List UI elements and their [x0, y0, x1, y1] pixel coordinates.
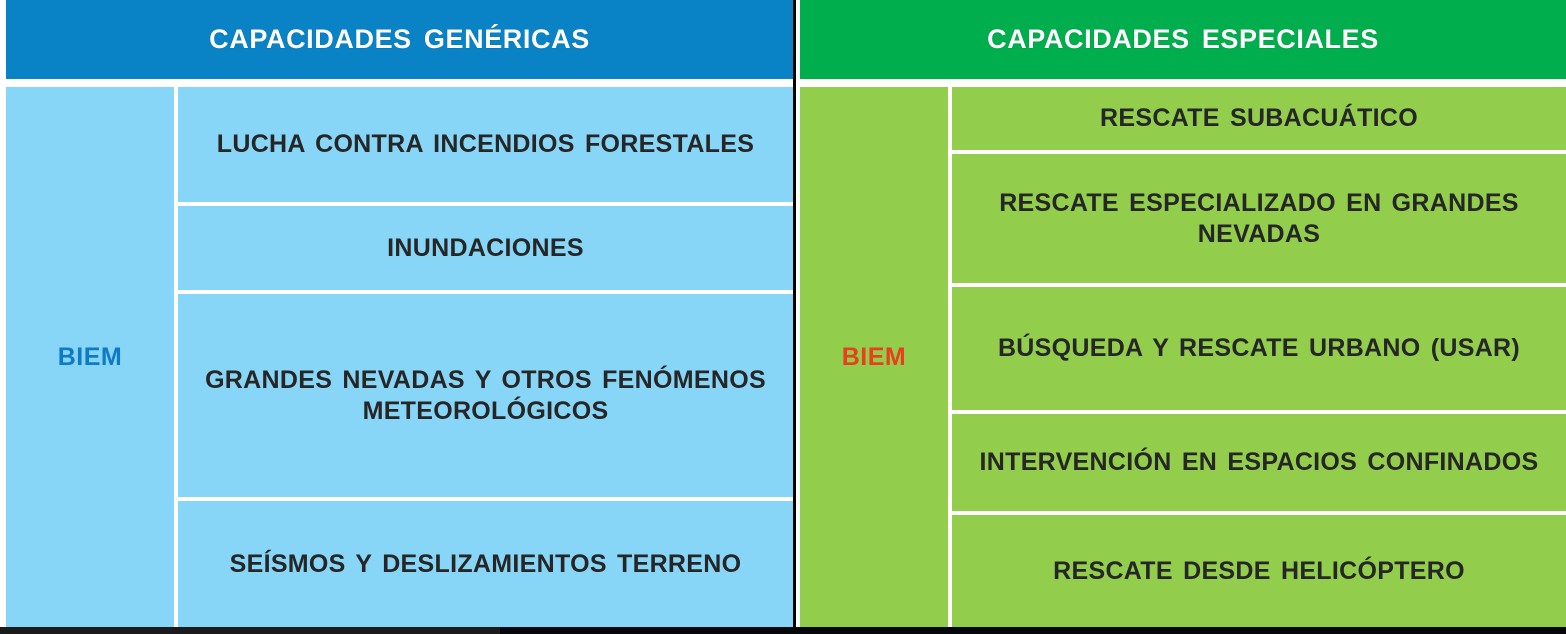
capability-row: LUCHA CONTRA INCENDIOS FORESTALES [178, 87, 793, 202]
panel-capacidades-especiales: CAPACIDADES ESPECIALES BIEM RESCATE SUBA… [800, 0, 1566, 627]
panel-header-generic: CAPACIDADES GENÉRICAS [6, 0, 793, 79]
panel-body-special: BIEM RESCATE SUBACUÁTICO RESCATE ESPECIA… [800, 87, 1566, 627]
capability-row: RESCATE DESDE HELICÓPTERO [952, 515, 1566, 627]
group-label-biem-generic: BIEM [6, 87, 174, 627]
header-body-gap-generic [6, 79, 793, 87]
group-label-biem-special: BIEM [800, 87, 948, 627]
capability-row: BÚSQUEDA Y RESCATE URBANO (USAR) [952, 287, 1566, 410]
panel-divider [793, 0, 796, 627]
header-body-gap-special [800, 79, 1566, 87]
rows-column-special: RESCATE SUBACUÁTICO RESCATE ESPECIALIZAD… [952, 87, 1566, 627]
panel-body-generic: BIEM LUCHA CONTRA INCENDIOS FORESTALES I… [6, 87, 793, 627]
capability-row: RESCATE SUBACUÁTICO [952, 87, 1566, 150]
panel-header-special: CAPACIDADES ESPECIALES [800, 0, 1566, 79]
panel-capacidades-genericas: CAPACIDADES GENÉRICAS BIEM LUCHA CONTRA … [6, 0, 793, 627]
capability-row: INUNDACIONES [178, 206, 793, 290]
capability-row: INTERVENCIÓN EN ESPACIOS CONFINADOS [952, 414, 1566, 511]
capability-row: SEÍSMOS Y DESLIZAMIENTOS TERRENO [178, 501, 793, 627]
capability-row: RESCATE ESPECIALIZADO EN GRANDES NEVADAS [952, 154, 1566, 283]
capability-row: GRANDES NEVADAS Y OTROS FENÓMENOS METEOR… [178, 294, 793, 497]
rows-column-generic: LUCHA CONTRA INCENDIOS FORESTALES INUNDA… [178, 87, 793, 627]
capabilities-table-slide: CAPACIDADES GENÉRICAS BIEM LUCHA CONTRA … [0, 0, 1566, 634]
bottom-edge-strip-right [500, 627, 1566, 634]
